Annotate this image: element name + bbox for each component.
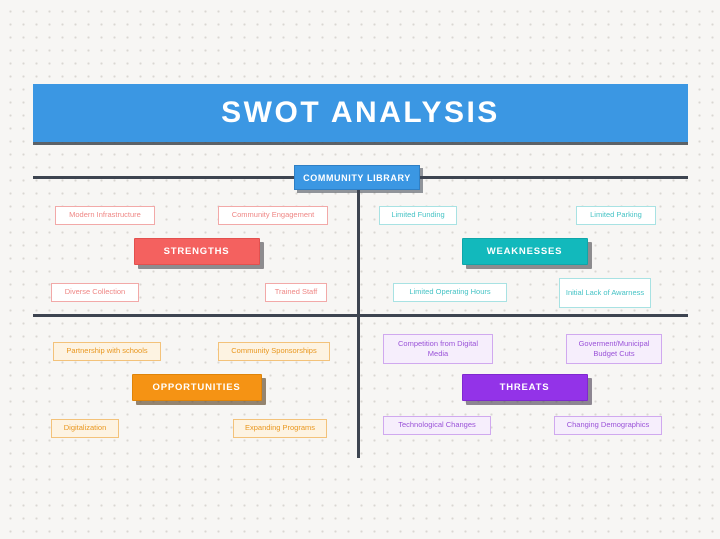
center-subject-text: COMMUNITY LIBRARY [303,173,411,183]
chip-opportunity-1: Partnership with schools [53,342,161,361]
banner-weaknesses-label: WEAKNESSES [487,246,563,257]
banner-weaknesses: WEAKNESSES [462,238,588,265]
center-subject-label: COMMUNITY LIBRARY [294,165,420,190]
chip-weakness-1: Limited Funding [379,206,457,225]
quadrant-weaknesses: Limited Funding Limited Parking WEAKNESS… [361,188,688,323]
quadrant-threats: Competition from Digital Media Goverment… [361,324,688,459]
swot-canvas: SWOT ANALYSIS COMMUNITY LIBRARY Modern I… [0,0,720,539]
chip-threat-4: Changing Demographics [554,416,662,435]
chip-weakness-4: Initial Lack of Awarness [559,278,651,308]
banner-opportunities-label: OPPORTUNITIES [153,382,241,393]
chip-threat-3: Technological Changes [383,416,491,435]
chip-opportunity-4: Expanding Programs [233,419,327,438]
banner-strengths: STRENGTHS [134,238,260,265]
chip-strength-1: Modern Infrastructure [55,206,155,225]
banner-strengths-label: STRENGTHS [164,246,230,257]
chip-threat-2: Goverment/Municipal Budget Cuts [566,334,662,364]
chip-threat-1: Competition from Digital Media [383,334,493,364]
chip-weakness-3: Limited Operating Hours [393,283,507,302]
banner-threats-label: THREATS [500,382,550,393]
chip-strength-3: Diverse Collection [51,283,139,302]
chip-opportunity-2: Community Sponsorships [218,342,330,361]
title-banner: SWOT ANALYSIS [33,84,688,142]
chip-strength-2: Community Engagement [218,206,328,225]
page-title: SWOT ANALYSIS [221,96,500,130]
banner-opportunities: OPPORTUNITIES [132,374,262,401]
chip-opportunity-3: Digitalization [51,419,119,438]
quadrant-strengths: Modern Infrastructure Community Engageme… [33,188,360,323]
banner-threats: THREATS [462,374,588,401]
chip-weakness-2: Limited Parking [576,206,656,225]
chip-strength-4: Trained Staff [265,283,327,302]
quadrant-opportunities: Partnership with schools Community Spons… [33,324,360,459]
